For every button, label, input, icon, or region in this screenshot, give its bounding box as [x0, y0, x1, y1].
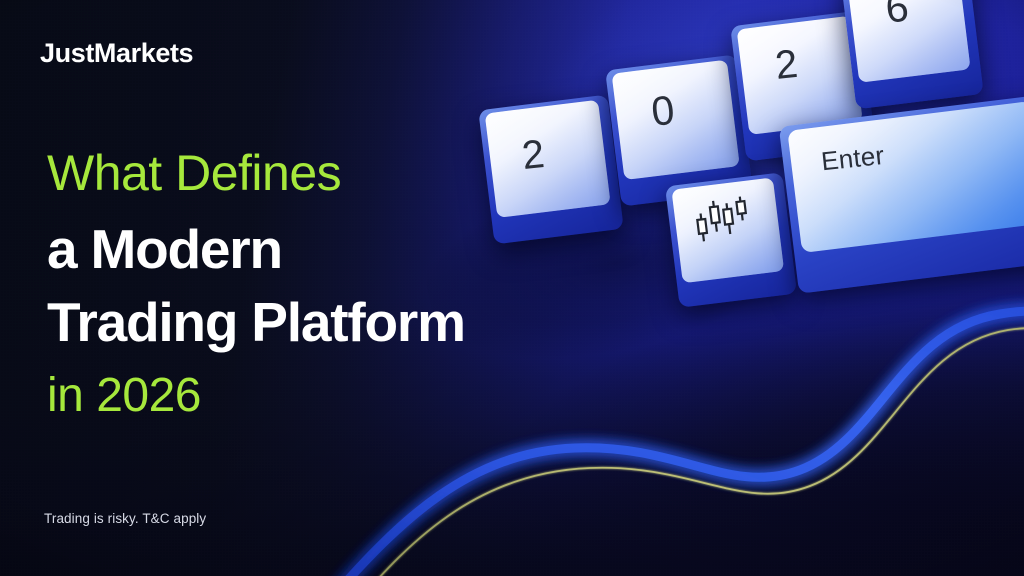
risk-disclaimer: Trading is risky. T&C apply — [44, 511, 206, 526]
keycap-6: 6 — [840, 0, 983, 109]
keycap-candlestick — [665, 172, 797, 307]
keycap-label: 0 — [649, 90, 676, 133]
keycap-enter: Enter — [779, 94, 1024, 293]
candlestick-chart-icon — [690, 193, 755, 248]
keycap-face: 6 — [847, 0, 971, 83]
headline-line-2: a Modern — [47, 222, 647, 277]
headline-block: What Defines a Modern Trading Platform i… — [47, 148, 647, 420]
headline-line-3: Trading Platform — [47, 295, 647, 350]
keycap-label: Enter — [820, 142, 886, 174]
brand-logo[interactable]: JustMarkets — [40, 38, 193, 69]
keycap-face — [671, 177, 784, 283]
keycap-face: 2 — [737, 16, 863, 135]
headline-line-4: in 2026 — [47, 372, 647, 420]
keycap-label: 2 — [773, 44, 799, 86]
promo-banner: 2 0 2 6 — [0, 0, 1024, 576]
headline-line-1: What Defines — [47, 148, 647, 198]
keycap-label: 6 — [883, 0, 910, 29]
